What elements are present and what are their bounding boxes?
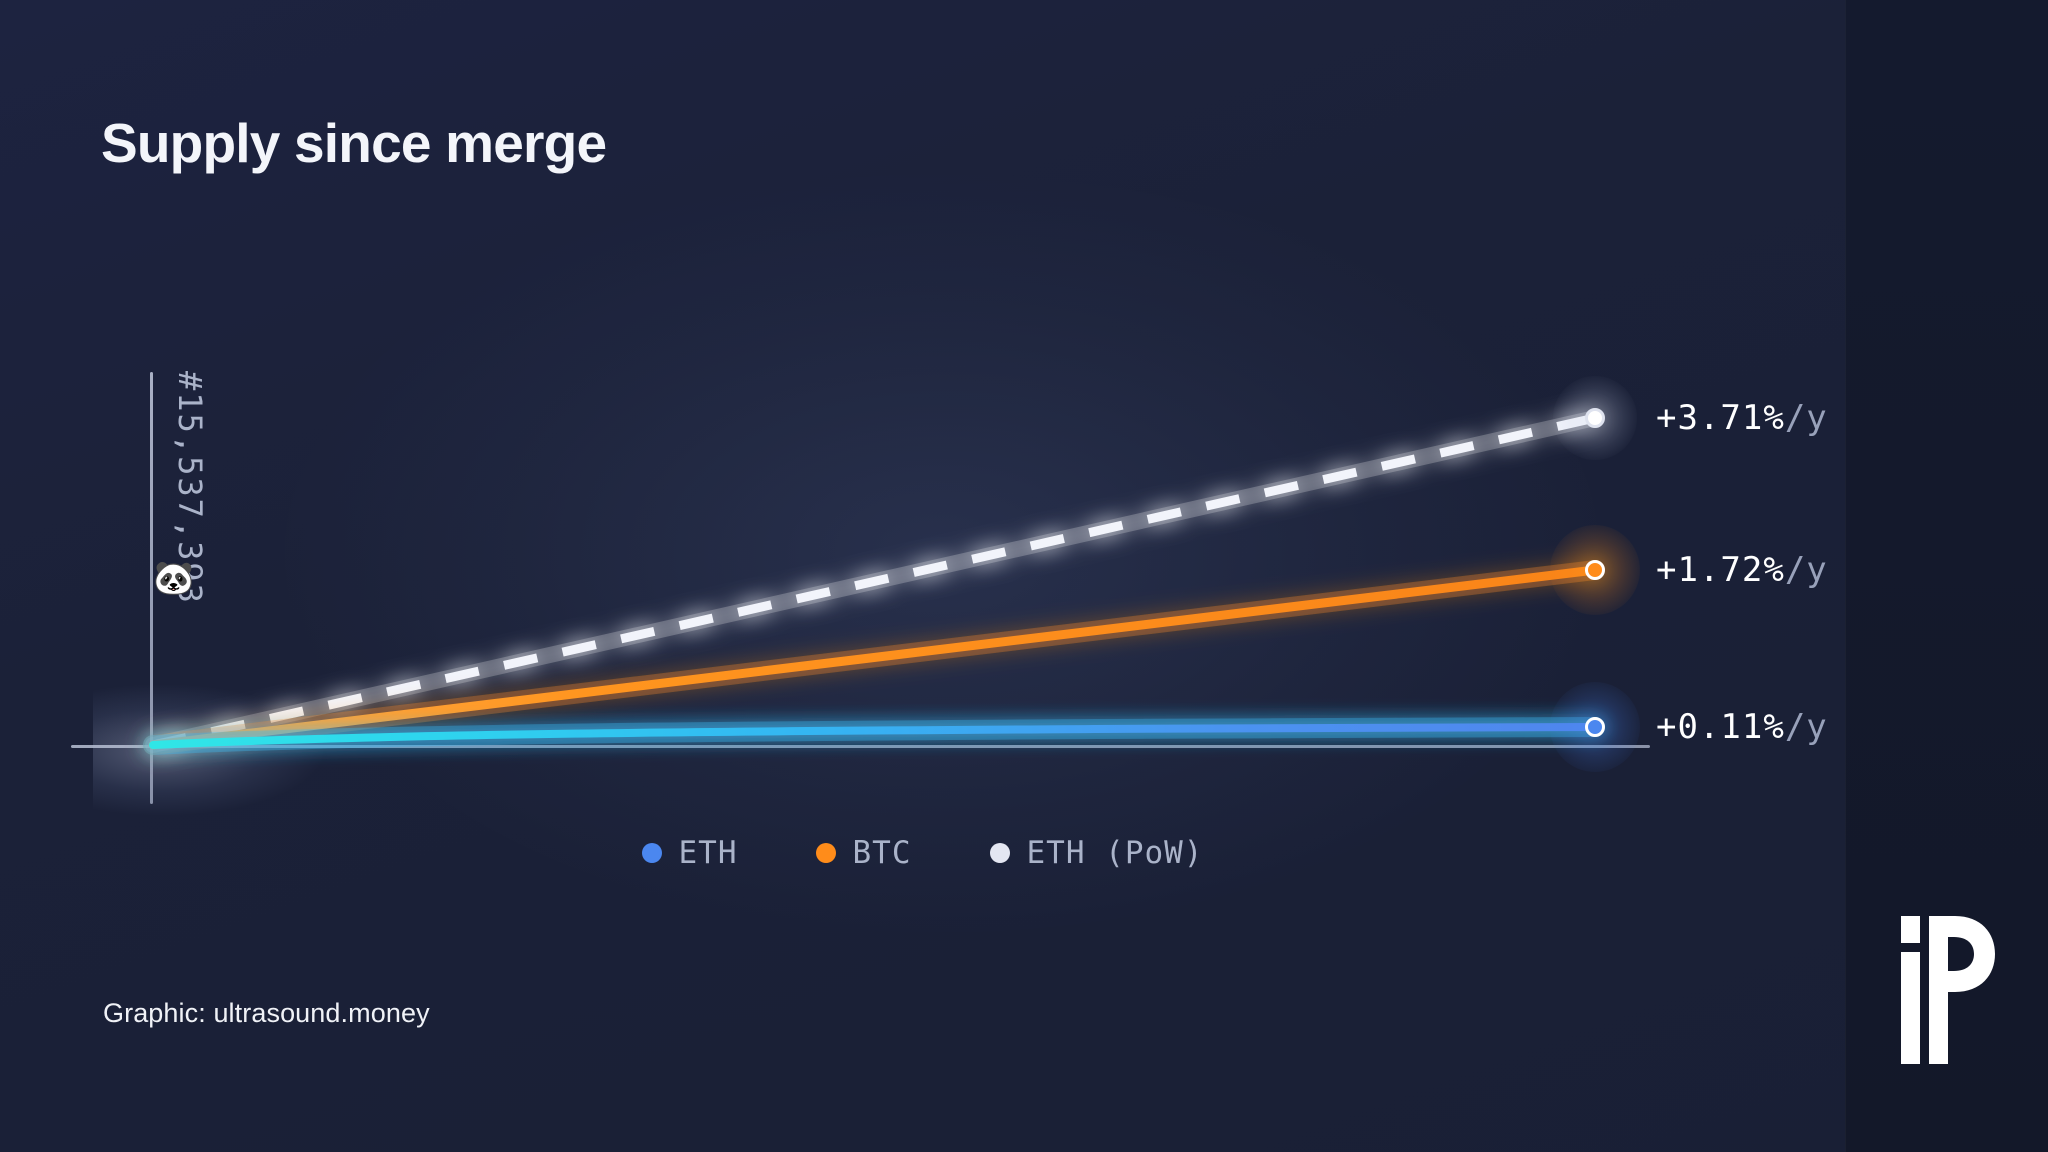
legend-label-eth-pow: ETH (PoW) <box>1027 835 1204 871</box>
series-eth-pow <box>153 418 1595 745</box>
graphic-credit: Graphic: ultrasound.money <box>103 998 430 1029</box>
endpoint-value-eth: +0.11% <box>1656 707 1785 747</box>
legend-dot-eth-pow-icon <box>990 843 1010 863</box>
legend-item-eth[interactable]: ETH <box>642 835 738 871</box>
endpoint-dot-eth <box>1585 717 1605 737</box>
endpoint-value-eth-pow: +3.71% <box>1656 398 1785 438</box>
endpoint-unit-eth: /y <box>1785 707 1828 747</box>
endpoint-unit-eth-pow: /y <box>1785 398 1828 438</box>
brand-rail: Informed crypto news <box>1845 0 2048 1152</box>
endpoint-value-btc: +1.72% <box>1656 550 1785 590</box>
legend-item-btc[interactable]: BTC <box>816 835 912 871</box>
page-title: Supply since merge <box>101 116 606 171</box>
endpoint-label-btc: +1.72%/y <box>1656 550 1828 590</box>
legend-label-btc: BTC <box>853 835 912 871</box>
legend-dot-eth-icon <box>642 843 662 863</box>
endpoint-dot-btc <box>1585 560 1605 580</box>
series-eth <box>153 727 1595 745</box>
chart-legend: ETH BTC ETH (PoW) <box>0 835 1845 871</box>
ip-logo-icon <box>1899 916 1995 1064</box>
series-lines <box>95 355 1715 795</box>
endpoint-unit-btc: /y <box>1785 550 1828 590</box>
endpoint-label-eth: +0.11%/y <box>1656 707 1828 747</box>
endpoint-dot-eth-pow <box>1585 408 1605 428</box>
plot-area: #15,537,393 🐼 <box>95 355 1715 795</box>
brand-tagline: Informed crypto news <box>1901 40 2048 420</box>
legend-label-eth: ETH <box>679 835 738 871</box>
legend-dot-btc-icon <box>816 843 836 863</box>
chart-canvas: Supply since merge #15,537,393 🐼 <box>0 0 2048 1152</box>
endpoint-label-eth-pow: +3.71%/y <box>1656 398 1828 438</box>
legend-item-eth-pow[interactable]: ETH (PoW) <box>990 835 1204 871</box>
